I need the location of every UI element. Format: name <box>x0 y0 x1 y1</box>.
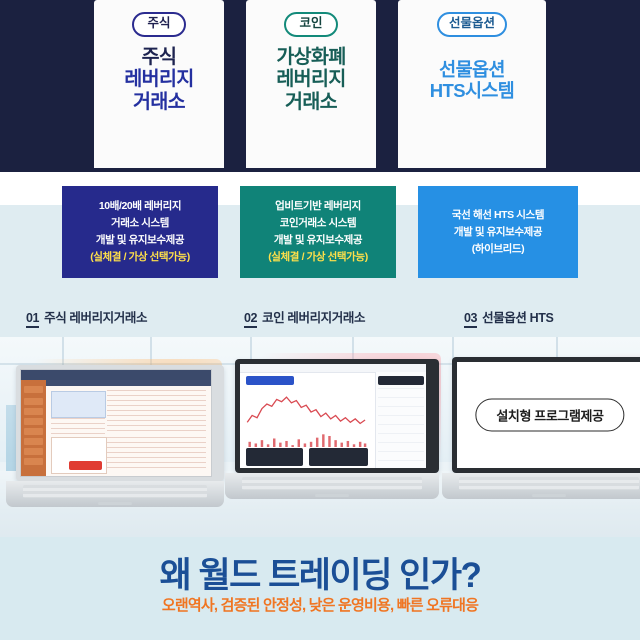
laptop-keyboard <box>242 477 422 491</box>
info-box-stock-line1: 10배/20배 레버리지 <box>99 198 181 215</box>
hero-card-row: 주식 주식 레버리지 거래소 코인 가상화폐 레버리지 거래소 선물옵션 선물 <box>0 0 640 172</box>
orderbook-tabs[interactable] <box>378 376 424 385</box>
info-box-futures-line1: 국선 해선 HTS 시스템 <box>452 207 544 224</box>
section-label-03-text: 선물옵션 HTS <box>482 311 553 325</box>
bottom-banner: 왜 월드 트레이딩 인가? 오랜역사, 검증된 안정성, 낮은 운영비용, 빠른… <box>0 537 640 640</box>
volume-bars <box>246 431 369 448</box>
section-label-01-text: 주식 레버리지거래소 <box>44 311 147 325</box>
hero-card-stock-title-line2: 레버리지 <box>124 68 193 91</box>
laptop-futures-lid: 설치형 프로그램제공 <box>452 357 640 473</box>
info-box-coin: 업비트기반 레버리지 코인거래소 시스템 개발 및 유지보수제공 (실체결 / … <box>240 186 396 278</box>
laptop-trackpad <box>532 494 566 497</box>
hero-card-coin-title-line1: 가상화폐 <box>276 46 345 69</box>
exchange-orderbook <box>375 372 426 468</box>
exchange-ticker-badge <box>246 376 294 384</box>
laptop-trackpad <box>315 494 349 497</box>
section-label-02-number: 02 <box>244 311 257 328</box>
hero-card-coin[interactable]: 코인 가상화폐 레버리지 거래소 <box>246 0 376 168</box>
section-label-02-text: 코인 레버리지거래소 <box>262 311 365 325</box>
laptop-coin-screen <box>239 363 427 469</box>
info-box-coin-line2: 코인거래소 시스템 <box>280 215 357 232</box>
laptop-stock <box>16 365 224 507</box>
hts-price-table <box>51 418 106 435</box>
laptop-trackpad <box>98 502 133 505</box>
order-panel-buy[interactable] <box>246 448 304 466</box>
section-label-01: 01주식 레버리지거래소 <box>26 307 147 326</box>
hero-card-coin-title: 가상화폐 레버리지 거래소 <box>276 46 345 114</box>
hero-card-futures-title-line1: 선물옵션 <box>430 59 514 80</box>
hero-card-futures-title-line2: HTS시스템 <box>430 80 514 101</box>
laptop-futures-base <box>442 473 640 499</box>
hts-panel-header <box>46 380 211 387</box>
info-box-coin-highlight: (실체결 / 가상 선택가능) <box>268 249 368 266</box>
info-box-stock: 10배/20배 레버리지 거래소 시스템 개발 및 유지보수제공 (실체결 / … <box>62 186 218 278</box>
section-label-03-number: 03 <box>464 311 477 328</box>
price-candle-chart <box>246 388 369 434</box>
laptop-futures: 설치형 프로그램제공 <box>452 357 640 499</box>
laptop-coin <box>235 359 439 499</box>
info-box-stock-line3: 개발 및 유지보수제공 <box>96 232 184 249</box>
hero-card-futures-title: 선물옵션 HTS시스템 <box>430 59 514 102</box>
laptop-keyboard <box>459 477 639 491</box>
laptop-coin-base <box>225 473 439 499</box>
laptop-coin-lid <box>235 359 439 473</box>
section-label-01-number: 01 <box>26 311 39 328</box>
info-box-stock-line2: 거래소 시스템 <box>111 215 169 232</box>
bottom-headline: 왜 월드 트레이딩 인가? <box>0 547 640 598</box>
hero-card-coin-badge: 코인 <box>284 12 337 37</box>
info-box-futures: 국선 해선 HTS 시스템 개발 및 유지보수제공 (하이브리드) <box>418 186 578 278</box>
hero-card-stock[interactable]: 주식 주식 레버리지 거래소 <box>94 0 224 168</box>
info-box-futures-line3: (하이브리드) <box>472 241 525 258</box>
info-box-futures-line2: 개발 및 유지보수제공 <box>454 224 542 241</box>
hts-sidebar <box>21 380 46 476</box>
section-label-02: 02코인 레버리지거래소 <box>244 307 365 326</box>
promo-page: 주식 주식 레버리지 거래소 코인 가상화폐 레버리지 거래소 선물옵션 선물 <box>0 0 640 640</box>
hero-card-futures-badge: 선물옵션 <box>437 12 507 37</box>
laptop-stock-screen <box>20 369 212 477</box>
hero-card-coin-title-line3: 거래소 <box>276 91 345 114</box>
laptop-stock-base <box>6 481 224 507</box>
order-panel-sell[interactable] <box>309 448 369 466</box>
hts-list-table <box>107 437 206 472</box>
install-program-label: 설치형 프로그램제공 <box>475 399 624 432</box>
hero-banner: 주식 주식 레버리지 거래소 코인 가상화폐 레버리지 거래소 선물옵션 선물 <box>0 0 640 172</box>
laptop-futures-screen: 설치형 프로그램제공 <box>456 361 640 469</box>
laptop-keyboard <box>23 485 206 499</box>
hero-card-coin-title-line2: 레버리지 <box>276 68 345 91</box>
orderbook-rows <box>378 388 424 465</box>
hts-quote-box <box>51 391 106 418</box>
hts-submit-button[interactable] <box>69 461 102 471</box>
hts-titlebar <box>21 370 211 380</box>
info-box-row: 10배/20배 레버리지 거래소 시스템 개발 및 유지보수제공 (실체결 / … <box>0 186 640 278</box>
hts-order-table <box>107 390 206 434</box>
laptop-stock-lid <box>16 365 224 481</box>
bottom-subheadline: 오랜역사, 검증된 안정성, 낮은 운영비용, 빠른 오류대응 <box>0 594 640 615</box>
section-label-row: 01주식 레버리지거래소 02코인 레버리지거래소 03선물옵션 HTS <box>0 305 640 333</box>
hero-card-futures[interactable]: 선물옵션 선물옵션 HTS시스템 <box>398 0 546 168</box>
hts-main-panel <box>46 380 211 476</box>
info-box-coin-line3: 개발 및 유지보수제공 <box>274 232 362 249</box>
hero-card-stock-badge: 주식 <box>132 12 185 37</box>
hero-card-stock-title: 주식 레버리지 거래소 <box>124 46 193 114</box>
info-box-coin-line1: 업비트기반 레버리지 <box>275 198 361 215</box>
info-box-stock-highlight: (실체결 / 가상 선택가능) <box>90 249 190 266</box>
office-photo-band: 설치형 프로그램제공 <box>0 337 640 537</box>
hero-card-stock-title-line1: 주식 <box>124 46 193 69</box>
section-label-03: 03선물옵션 HTS <box>464 307 553 326</box>
hero-card-stock-title-line3: 거래소 <box>124 91 193 114</box>
